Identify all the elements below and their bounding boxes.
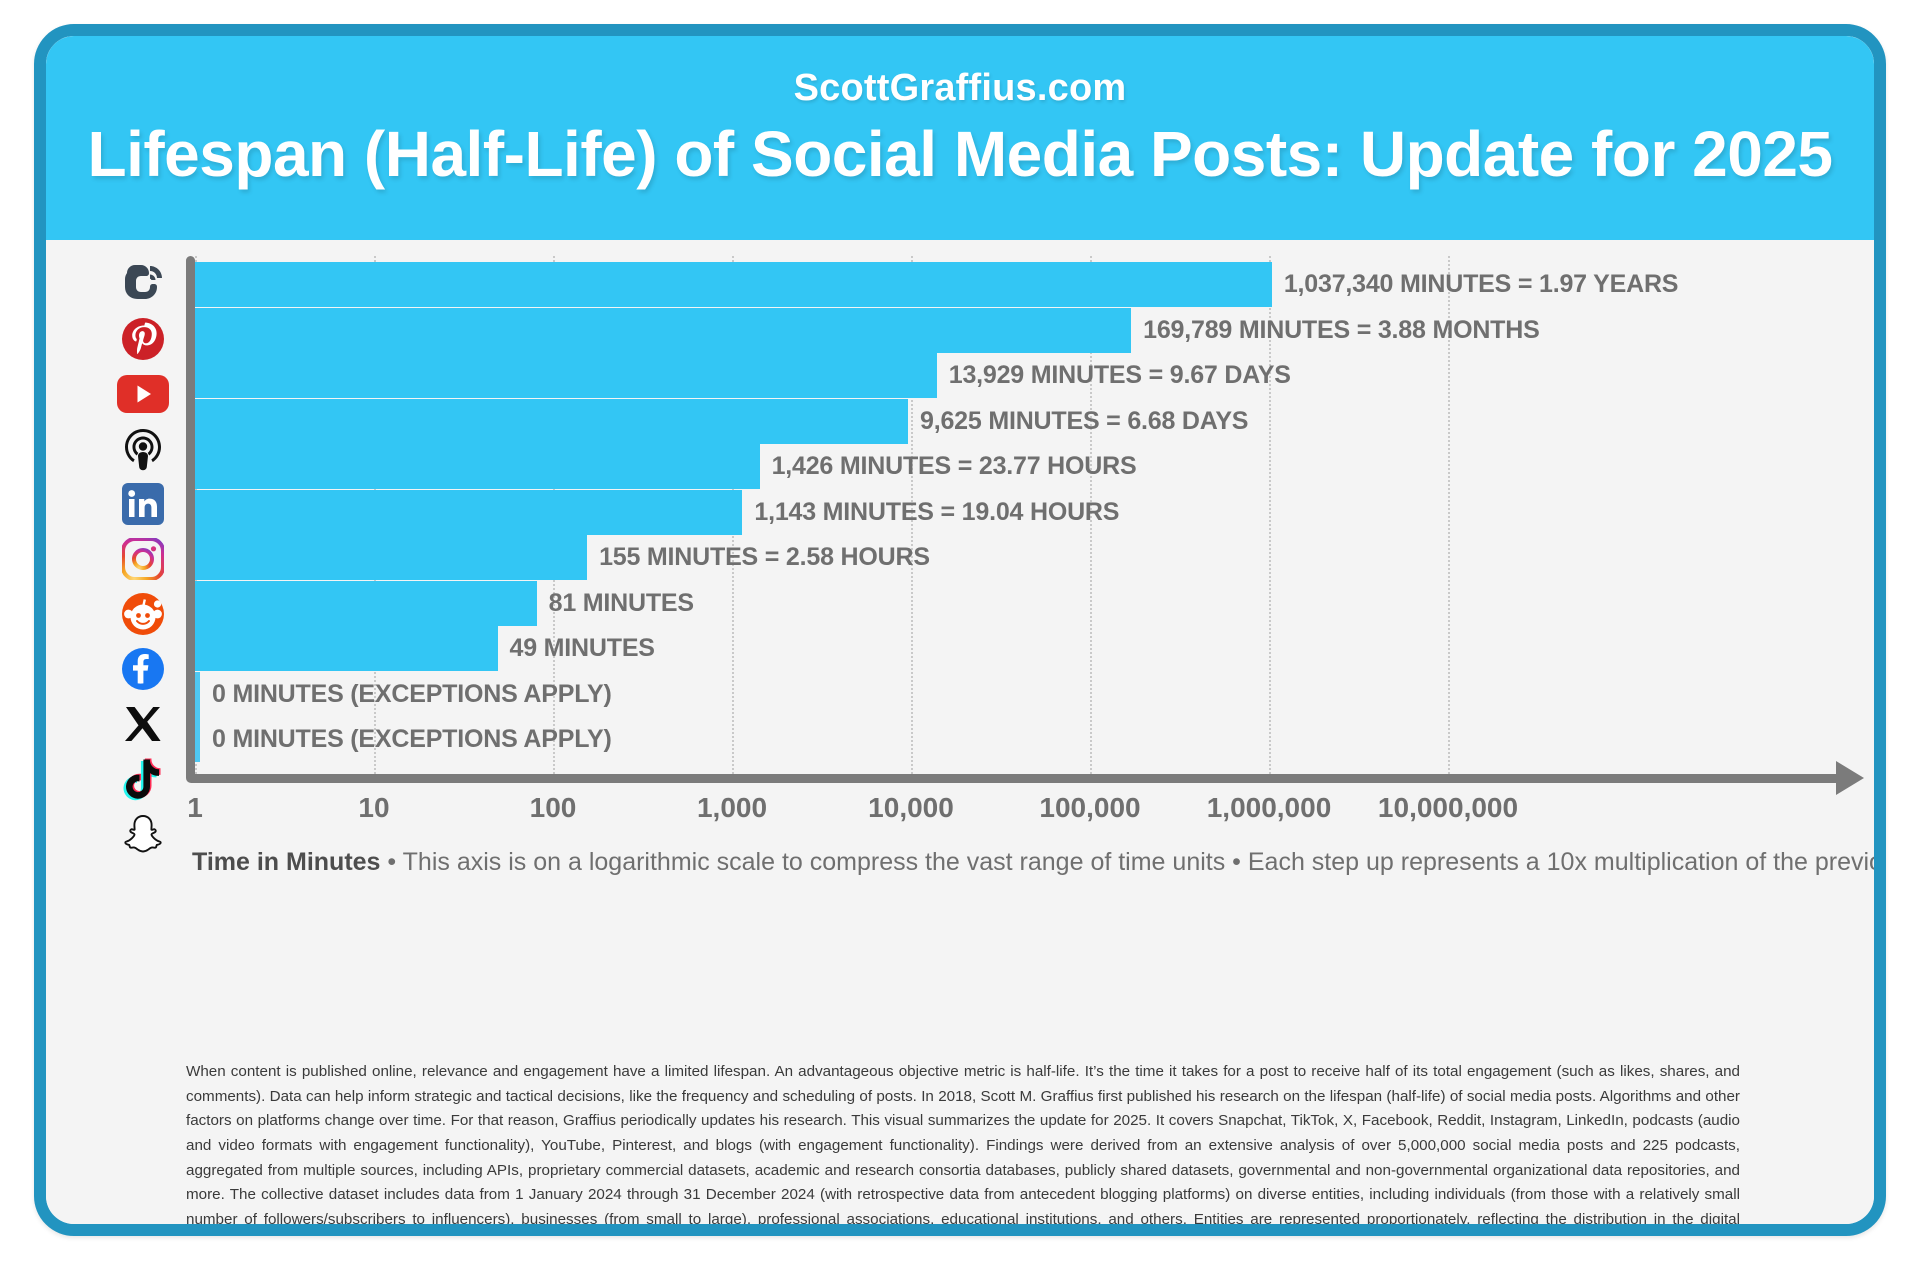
bar-podcast	[195, 399, 908, 444]
bar-row[interactable]: 169,789 MINUTES = 3.88 MONTHS	[195, 308, 1540, 353]
poster-body: 1,037,340 MINUTES = 1.97 YEARS169,789 MI…	[46, 240, 1874, 1224]
axis-caption-bold: Time in Minutes	[192, 848, 380, 876]
bar-value-label: 0 MINUTES (EXCEPTIONS APPLY)	[212, 725, 612, 754]
axis-caption: Time in Minutes • This axis is on a loga…	[192, 848, 1852, 877]
linkedin-icon	[106, 476, 180, 531]
bar-row[interactable]: 81 MINUTES	[195, 581, 694, 626]
bar-value-label: 13,929 MINUTES = 9.67 DAYS	[949, 361, 1291, 390]
bar-value-label: 1,143 MINUTES = 19.04 HOURS	[754, 498, 1119, 527]
x-tick-label: 1,000	[697, 792, 767, 824]
bar-linkedin	[195, 444, 760, 489]
axis-caption-rest: • This axis is on a logarithmic scale to…	[380, 848, 1886, 876]
platform-icon-column	[106, 256, 180, 861]
bar-x-twitter	[195, 626, 498, 671]
page-title: Lifespan (Half-Life) of Social Media Pos…	[46, 110, 1874, 192]
tiktok-icon	[106, 751, 180, 806]
facebook-icon	[106, 641, 180, 696]
x-tick-label: 100,000	[1039, 792, 1140, 824]
bar-row[interactable]: 0 MINUTES (EXCEPTIONS APPLY)	[195, 672, 612, 717]
bar-value-label: 169,789 MINUTES = 3.88 MONTHS	[1143, 316, 1539, 345]
poster-frame: ScottGraffius.com Lifespan (Half-Life) o…	[34, 24, 1886, 1236]
x-axis-arrow-icon	[1836, 761, 1864, 795]
instagram-icon	[106, 531, 180, 586]
poster-header: ScottGraffius.com Lifespan (Half-Life) o…	[46, 36, 1874, 240]
bar-row[interactable]: 0 MINUTES (EXCEPTIONS APPLY)	[195, 717, 612, 762]
bar-row[interactable]: 1,143 MINUTES = 19.04 HOURS	[195, 490, 1119, 535]
bar-row[interactable]: 155 MINUTES = 2.58 HOURS	[195, 535, 930, 580]
snapchat-icon	[106, 806, 180, 861]
bar-chart: 1,037,340 MINUTES = 1.97 YEARS169,789 MI…	[46, 240, 1874, 1000]
bar-row[interactable]: 1,426 MINUTES = 23.77 HOURS	[195, 444, 1136, 489]
bar-value-label: 1,037,340 MINUTES = 1.97 YEARS	[1284, 270, 1678, 299]
bar-value-label: 49 MINUTES	[510, 634, 655, 663]
bar-pinterest	[195, 308, 1131, 353]
bar-blogger	[195, 262, 1272, 307]
bar-facebook	[195, 581, 537, 626]
x-axis-line	[186, 774, 1841, 783]
bar-value-label: 0 MINUTES (EXCEPTIONS APPLY)	[212, 680, 612, 709]
pinterest-icon	[106, 311, 180, 366]
bar-youtube	[195, 353, 937, 398]
x-tick-label: 10,000,000	[1378, 792, 1518, 824]
bar-value-label: 81 MINUTES	[549, 589, 694, 618]
bar-reddit	[195, 535, 587, 580]
infographic-poster: ScottGraffius.com Lifespan (Half-Life) o…	[0, 0, 1920, 1261]
bar-row[interactable]: 13,929 MINUTES = 9.67 DAYS	[195, 353, 1291, 398]
y-axis-line	[186, 256, 195, 780]
bar-snapchat	[195, 717, 200, 762]
blogger-icon	[106, 256, 180, 311]
bar-row[interactable]: 49 MINUTES	[195, 626, 655, 671]
reddit-icon	[106, 586, 180, 641]
bar-value-label: 155 MINUTES = 2.58 HOURS	[599, 543, 930, 572]
x-tick-label: 1	[187, 792, 203, 824]
youtube-icon	[106, 366, 180, 421]
site-name: ScottGraffius.com	[46, 36, 1874, 110]
bar-row[interactable]: 9,625 MINUTES = 6.68 DAYS	[195, 399, 1248, 444]
bar-row[interactable]: 1,037,340 MINUTES = 1.97 YEARS	[195, 262, 1678, 307]
podcast-icon	[106, 421, 180, 476]
x-twitter-icon	[106, 696, 180, 751]
x-tick-label: 1,000,000	[1207, 792, 1332, 824]
bar-tiktok	[195, 672, 200, 717]
x-tick-label: 10	[358, 792, 389, 824]
x-tick-label: 10,000	[868, 792, 954, 824]
footnote-body: When content is published online, releva…	[186, 1063, 1740, 1236]
footnote-paragraph: When content is published online, releva…	[186, 1060, 1740, 1236]
bar-value-label: 9,625 MINUTES = 6.68 DAYS	[920, 407, 1248, 436]
bar-instagram	[195, 490, 742, 535]
bar-value-label: 1,426 MINUTES = 23.77 HOURS	[772, 452, 1137, 481]
x-tick-label: 100	[530, 792, 577, 824]
